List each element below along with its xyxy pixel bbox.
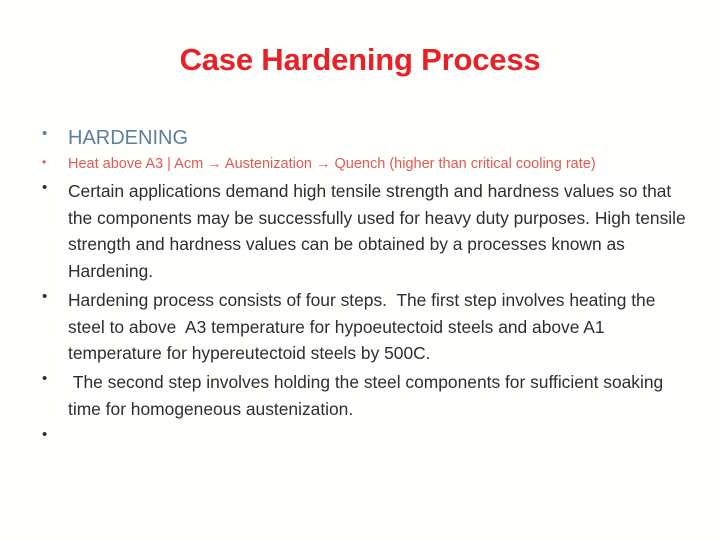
bullet-item-empty: • (36, 425, 696, 447)
bullet-glyph-icon: • (42, 155, 46, 171)
bullet-text: Hardening process consists of four steps… (68, 287, 696, 366)
bullet-item-hardening: • HARDENING (36, 124, 696, 153)
bullet-glyph-icon: • (42, 286, 47, 309)
slide-title: Case Hardening Process (0, 44, 720, 77)
bullet-item-hardening-route: • Heat above A3 | Acm → Austenization → … (36, 155, 696, 174)
bullet-glyph-icon: • (42, 368, 47, 391)
bullet-text: Heat above A3 | Acm → Austenization → Qu… (68, 155, 696, 174)
bullet-item-second-step: • The second step involves holding the s… (36, 369, 696, 422)
bullet-item-applications: • Certain applications demand high tensi… (36, 178, 696, 284)
bullet-item-four-steps: • Hardening process consists of four ste… (36, 287, 696, 366)
bullet-text: The second step involves holding the ste… (68, 369, 696, 422)
bullet-glyph-icon: • (42, 424, 47, 447)
slide-body: • HARDENING • Heat above A3 | Acm → Aust… (36, 124, 696, 447)
bullet-glyph-icon: • (42, 177, 47, 200)
bullet-text: HARDENING (68, 124, 696, 153)
slide-canvas: Case Hardening Process • HARDENING • Hea… (0, 0, 720, 540)
bullet-glyph-icon: • (42, 123, 47, 145)
bullet-text: Certain applications demand high tensile… (68, 178, 696, 284)
